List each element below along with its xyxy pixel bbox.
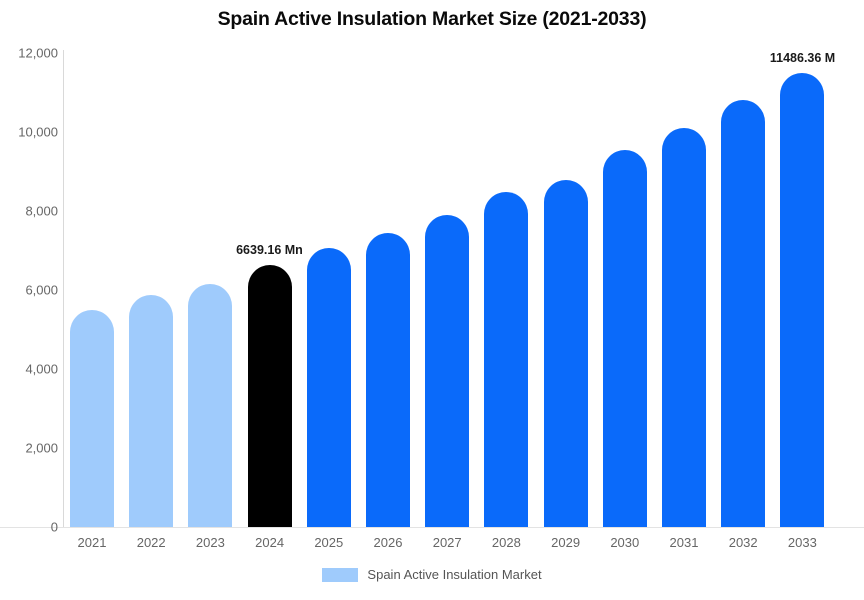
x-axis-tick-2030: 2030: [596, 535, 654, 550]
x-axis-tick-2024: 2024: [241, 535, 299, 550]
x-axis-tick-2026: 2026: [359, 535, 417, 550]
x-axis-tick-2029: 2029: [537, 535, 595, 550]
x-axis-tick-2032: 2032: [714, 535, 772, 550]
x-axis-tick-2027: 2027: [418, 535, 476, 550]
x-axis-tick-2031: 2031: [655, 535, 713, 550]
legend-label-spain-active-insulation-market: Spain Active Insulation Market: [367, 567, 541, 582]
chart-legend: Spain Active Insulation Market: [0, 567, 864, 582]
x-axis-tick-2022: 2022: [122, 535, 180, 550]
x-axis-tick-2021: 2021: [63, 535, 121, 550]
x-axis-tick-2033: 2033: [773, 535, 831, 550]
x-axis: 2021202220232024202520262027202820292030…: [0, 0, 864, 600]
data-label-2033: 11486.36 M: [770, 51, 835, 65]
x-axis-tick-2028: 2028: [477, 535, 535, 550]
data-label-2024: 6639.16 Mn: [236, 243, 303, 257]
legend-swatch-spain-active-insulation-market: [322, 568, 358, 582]
x-axis-tick-2023: 2023: [181, 535, 239, 550]
x-axis-tick-2025: 2025: [300, 535, 358, 550]
chart-container: Spain Active Insulation Market Size (202…: [0, 0, 864, 600]
